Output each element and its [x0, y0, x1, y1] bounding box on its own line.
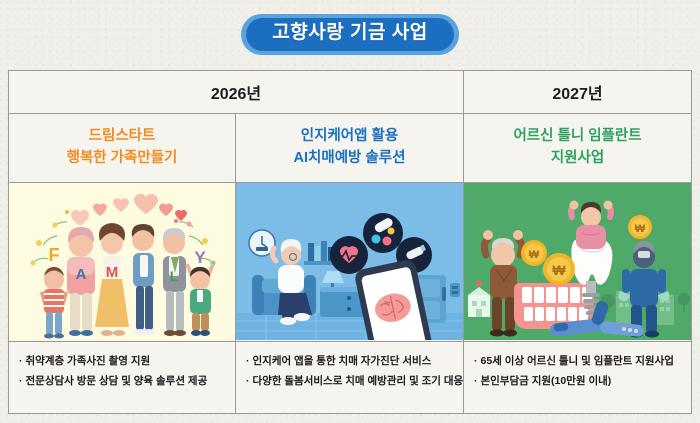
svg-text:Y: Y	[194, 248, 206, 267]
bullets-cognitive-care: ·인지케어 앱을 통한 치매 자가진단 서비스 ·다양한 돌봄서비스로 치매 예…	[236, 342, 464, 413]
program-title-dreamstart: 드림스타트 행복한 가족만들기	[9, 114, 236, 182]
list-item: ·전문상담사 방문 상담 및 양육 솔루션 제공	[19, 371, 226, 391]
table-header-row: 2026년 2027년	[9, 71, 691, 114]
program-title-line1: 어르신 틀니 임플란트	[513, 126, 641, 148]
bullet-text: 다양한 돌봄서비스로 치매 예방관리 및 조기 대응	[253, 375, 464, 387]
list-item: ·65세 이상 어르신 틀니 및 임플란트 지원사업	[474, 351, 682, 371]
title-banner: 고향사랑 기금 사업	[0, 14, 700, 55]
program-title-line2: 지원사업	[513, 148, 641, 170]
coin: ₩	[628, 215, 652, 239]
list-item: ·취약계층 가족사진 촬영 지원	[19, 351, 226, 371]
senior-denture-implant-illustration: ₩ ₩ ₩	[464, 183, 691, 341]
bullet-text: 전문상담사 방문 상담 및 양육 솔루션 제공	[26, 375, 208, 387]
bullet-text: 본인부담금 지원(10만원 이내)	[481, 375, 612, 387]
bullet-row: ·취약계층 가족사진 촬영 지원 ·전문상담사 방문 상담 및 양육 솔루션 제…	[9, 342, 691, 413]
program-table: 2026년 2027년 드림스타트 행복한 가족만들기 인지케어앱 활용 AI치…	[8, 70, 692, 414]
program-title-line1: 드림스타트	[67, 126, 178, 148]
bullets-dreamstart: ·취약계층 가족사진 촬영 지원 ·전문상담사 방문 상담 및 양육 솔루션 제…	[9, 342, 236, 413]
bullets-denture-implant: ·65세 이상 어르신 틀니 및 임플란트 지원사업 ·본인부담금 지원(10만…	[464, 342, 691, 413]
year-header-2026: 2026년	[9, 71, 464, 113]
bullet-text: 65세 이상 어르신 틀니 및 임플란트 지원사업	[481, 355, 674, 367]
list-item: ·다양한 돌봄서비스로 치매 예방관리 및 조기 대응	[246, 371, 454, 391]
program-title-row: 드림스타트 행복한 가족만들기 인지케어앱 활용 AI치매예방 솔루션 어르신 …	[9, 114, 691, 183]
program-title-cognitive-care: 인지케어앱 활용 AI치매예방 솔루션	[236, 114, 464, 182]
heart-rate-icon	[330, 236, 368, 274]
coin: ₩	[543, 253, 575, 285]
bullet-marker: ·	[19, 371, 23, 391]
bullet-marker: ·	[19, 351, 23, 371]
page-title: 고향사랑 기금 사업	[246, 18, 453, 51]
bullet-text: 취약계층 가족사진 촬영 지원	[26, 355, 151, 367]
svg-text:F: F	[49, 245, 60, 265]
program-title-denture-implant: 어르신 틀니 임플란트 지원사업	[464, 114, 691, 182]
senior-dementia-app-illustration	[236, 183, 464, 341]
program-title-line2: 행복한 가족만들기	[67, 148, 178, 170]
svg-text:L: L	[170, 268, 179, 284]
coin: ₩	[521, 240, 547, 266]
bullet-marker: ·	[246, 371, 250, 391]
infographic-root: 고향사랑 기금 사업 2026년 2027년 드림스타트 행복한 가족만들기 인…	[0, 0, 700, 423]
bullet-text: 인지케어 앱을 통한 치매 자가진단 서비스	[253, 355, 432, 367]
program-title-line1: 인지케어앱 활용	[294, 126, 406, 148]
svg-text:M: M	[106, 264, 119, 281]
list-item: ·인지케어 앱을 통한 치매 자가진단 서비스	[246, 351, 454, 371]
bullet-marker: ·	[474, 371, 478, 391]
program-title-line2: AI치매예방 솔루션	[294, 148, 406, 170]
list-item: ·본인부담금 지원(10만원 이내)	[474, 371, 682, 391]
year-header-2027: 2027년	[464, 71, 691, 113]
title-pill: 고향사랑 기금 사업	[241, 14, 458, 55]
svg-text:A: A	[76, 266, 87, 283]
coin-symbol: ₩	[552, 262, 566, 278]
coin-symbol: ₩	[635, 223, 646, 235]
family-letters-illustration: F A	[9, 183, 236, 341]
bullet-marker: ·	[246, 351, 250, 371]
illustration-row: F A	[9, 183, 691, 342]
coin-symbol: ₩	[529, 249, 540, 261]
pills-icon	[363, 213, 403, 253]
bullet-marker: ·	[474, 351, 478, 371]
